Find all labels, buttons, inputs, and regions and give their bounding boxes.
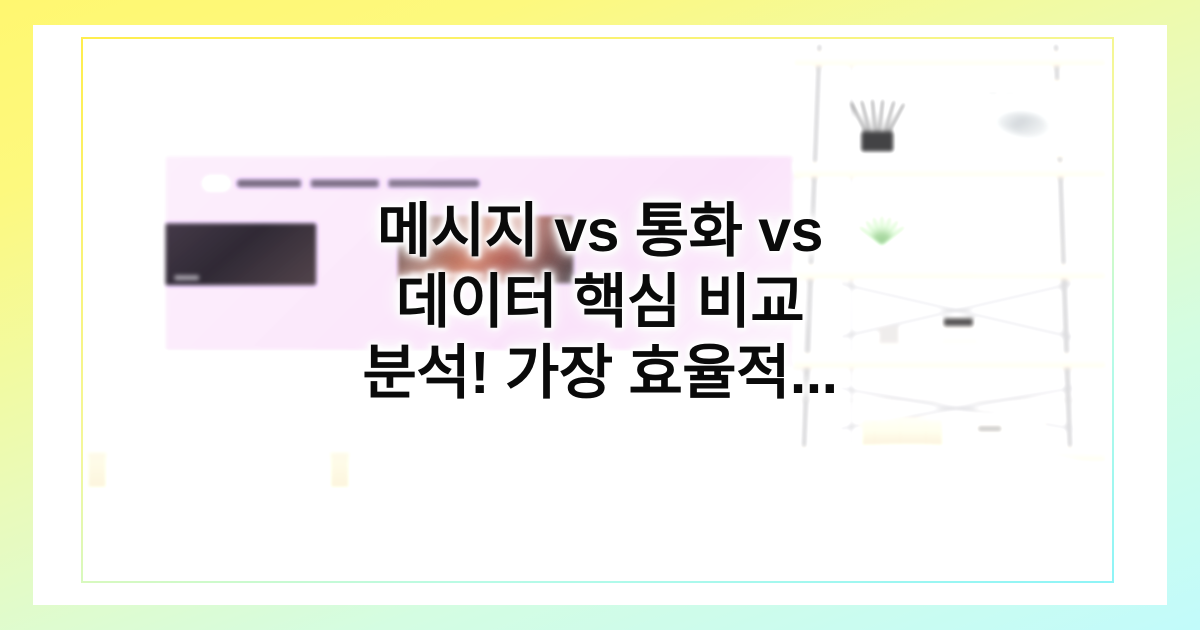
photo-scene [48, 26, 1167, 605]
tv-header-text [237, 180, 479, 188]
cabinet-top [48, 352, 665, 362]
picture-caption [987, 91, 1029, 95]
keepsake-box [941, 324, 980, 343]
enjoy-sign [968, 418, 1045, 452]
reed-diffuser [861, 131, 894, 152]
tv-ui-header [203, 172, 479, 195]
picture-frame [971, 80, 1069, 157]
shelf-plank [793, 163, 1108, 177]
small-ornament [879, 327, 900, 344]
thumbnail-card: 메시지 vs 통화 vs 데이터 핵심 비교 분석! 가장 효율적... [0, 0, 1200, 630]
tv-thumbnail-right [398, 216, 574, 283]
shelf-plank [793, 52, 1108, 66]
tv-screen [166, 156, 793, 366]
cabinet-shadow [48, 448, 659, 464]
tv-cabinet [48, 360, 659, 452]
picture-artwork [985, 100, 1057, 142]
background-photo [48, 26, 1167, 605]
tv-glare [441, 303, 497, 318]
television [157, 150, 802, 374]
shelf-post-left [799, 44, 822, 469]
shelf-plank [793, 265, 1108, 279]
shelf-plank [793, 354, 1108, 368]
keepsake-box-lid [944, 318, 974, 326]
table-lamp [974, 231, 1045, 259]
enjoy-sign-text [977, 425, 1022, 432]
tv-thumbnail-left [166, 223, 316, 286]
tv-avatar-icon [203, 177, 230, 191]
shelving-unit [802, 44, 1099, 469]
potted-plant-shelf [861, 242, 900, 262]
